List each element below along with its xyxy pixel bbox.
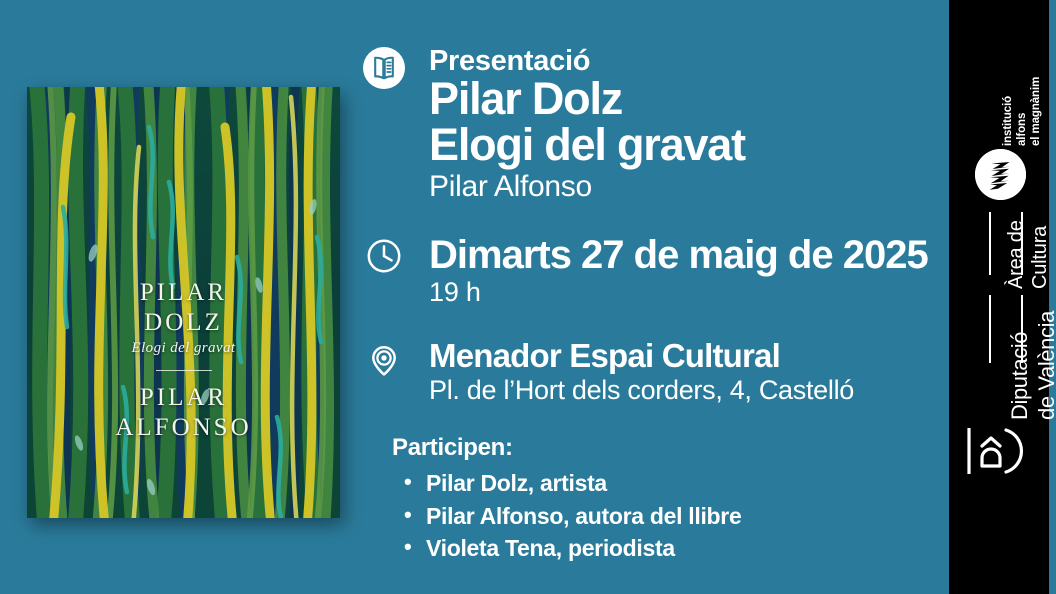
list-item: Pilar Dolz, artista <box>392 467 912 500</box>
event-date: Dimarts 27 de maig de 2025 <box>429 234 942 276</box>
participants-list: Pilar Dolz, artista Pilar Alfonso, autor… <box>392 467 912 565</box>
cover-author1-line2: DOLZ <box>27 309 340 337</box>
area-cultura-wordmark: Àrea de Cultura <box>1004 220 1052 289</box>
event-time: 19 h <box>429 276 942 310</box>
magnanim-line2: alfons <box>1015 77 1029 146</box>
sidebar-rule <box>989 212 991 275</box>
diputacio-line2: de València <box>1034 311 1056 420</box>
presentation-block: Presentació Pilar Dolz Elogi del gravat … <box>362 46 942 206</box>
list-item: Pilar Alfonso, autora del llibre <box>392 500 912 533</box>
cover-divider <box>156 370 212 371</box>
venue-name: Menador Espai Cultural <box>429 338 942 374</box>
presentation-title-line1: Pilar Dolz <box>429 76 942 122</box>
cover-author2-line2: ALFONSO <box>27 414 340 442</box>
diputacio-wordmark: Diputació de València <box>1007 311 1056 420</box>
magnanim-line3: el magnànim <box>1029 77 1043 146</box>
diputacio-dv-logo-icon <box>962 420 1024 482</box>
sidebar-rule <box>989 295 991 363</box>
book-cover-image: PILAR DOLZ Elogi del gravat PILAR ALFONS… <box>27 87 340 518</box>
book-icon <box>362 46 406 90</box>
map-pin-icon <box>362 338 406 382</box>
cover-author1-line1: PILAR <box>27 279 340 307</box>
presentation-author: Pilar Alfonso <box>429 168 942 206</box>
magnanim-logo-icon <box>975 149 1026 200</box>
magnanim-line1: institució <box>1001 77 1015 146</box>
presentation-kicker: Presentació <box>429 46 942 76</box>
location-block: Menador Espai Cultural Pl. de l’Hort del… <box>362 338 942 407</box>
cover-author2-line1: PILAR <box>27 384 340 412</box>
diputacio-line1: Diputació <box>1007 311 1034 420</box>
cover-subtitle: Elogi del gravat <box>27 340 340 357</box>
participants-block: Participen: Pilar Dolz, artista Pilar Al… <box>392 434 912 565</box>
magnanim-wordmark: institució alfons el magnànim <box>1001 77 1043 146</box>
area-line2: Cultura <box>1028 220 1052 289</box>
event-details: Presentació Pilar Dolz Elogi del gravat … <box>362 46 942 408</box>
presentation-title-line2: Elogi del gravat <box>429 122 942 168</box>
right-edge-strip <box>1049 0 1056 594</box>
area-line1: Àrea de <box>1004 220 1028 289</box>
clock-icon <box>362 234 406 278</box>
event-poster: PILAR DOLZ Elogi del gravat PILAR ALFONS… <box>0 0 1056 594</box>
datetime-block: Dimarts 27 de maig de 2025 19 h <box>362 234 942 310</box>
participants-heading: Participen: <box>392 434 912 462</box>
venue-address: Pl. de l’Hort dels corders, 4, Castelló <box>429 374 942 408</box>
list-item: Violeta Tena, periodista <box>392 532 912 565</box>
book-cover-canvas: PILAR DOLZ Elogi del gravat PILAR ALFONS… <box>27 87 340 518</box>
